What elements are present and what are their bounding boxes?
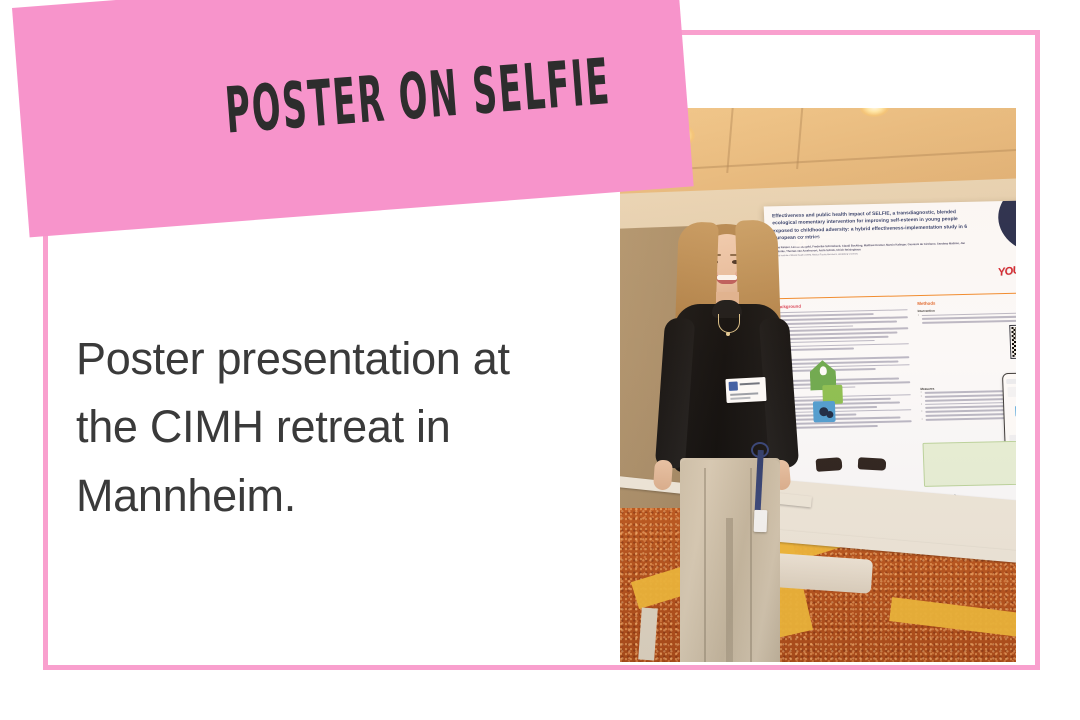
mouth	[716, 275, 738, 284]
body-text: Poster presentation at the CIMH retreat …	[76, 325, 576, 530]
background-shoe-right	[858, 457, 887, 470]
lanyard-card	[754, 510, 768, 532]
poster-section-methods: Methods Intervention Measures	[917, 298, 1016, 423]
presenter	[630, 218, 840, 662]
ceiling-light-right	[859, 108, 890, 118]
title-banner-label: POSTER ON SELFIE	[223, 46, 613, 149]
hand-left	[653, 459, 673, 490]
results-highlight-box	[922, 440, 1016, 487]
floor-tape-4	[889, 597, 1016, 643]
slide-canvas: 6. Effectiveness and public health impac…	[0, 0, 1080, 720]
qr-code-icon	[1010, 325, 1016, 358]
name-badge	[725, 377, 766, 403]
poster-presentation-photo: 6. Effectiveness and public health impac…	[620, 108, 1016, 662]
qr-caption: Scan me	[1005, 357, 1016, 360]
